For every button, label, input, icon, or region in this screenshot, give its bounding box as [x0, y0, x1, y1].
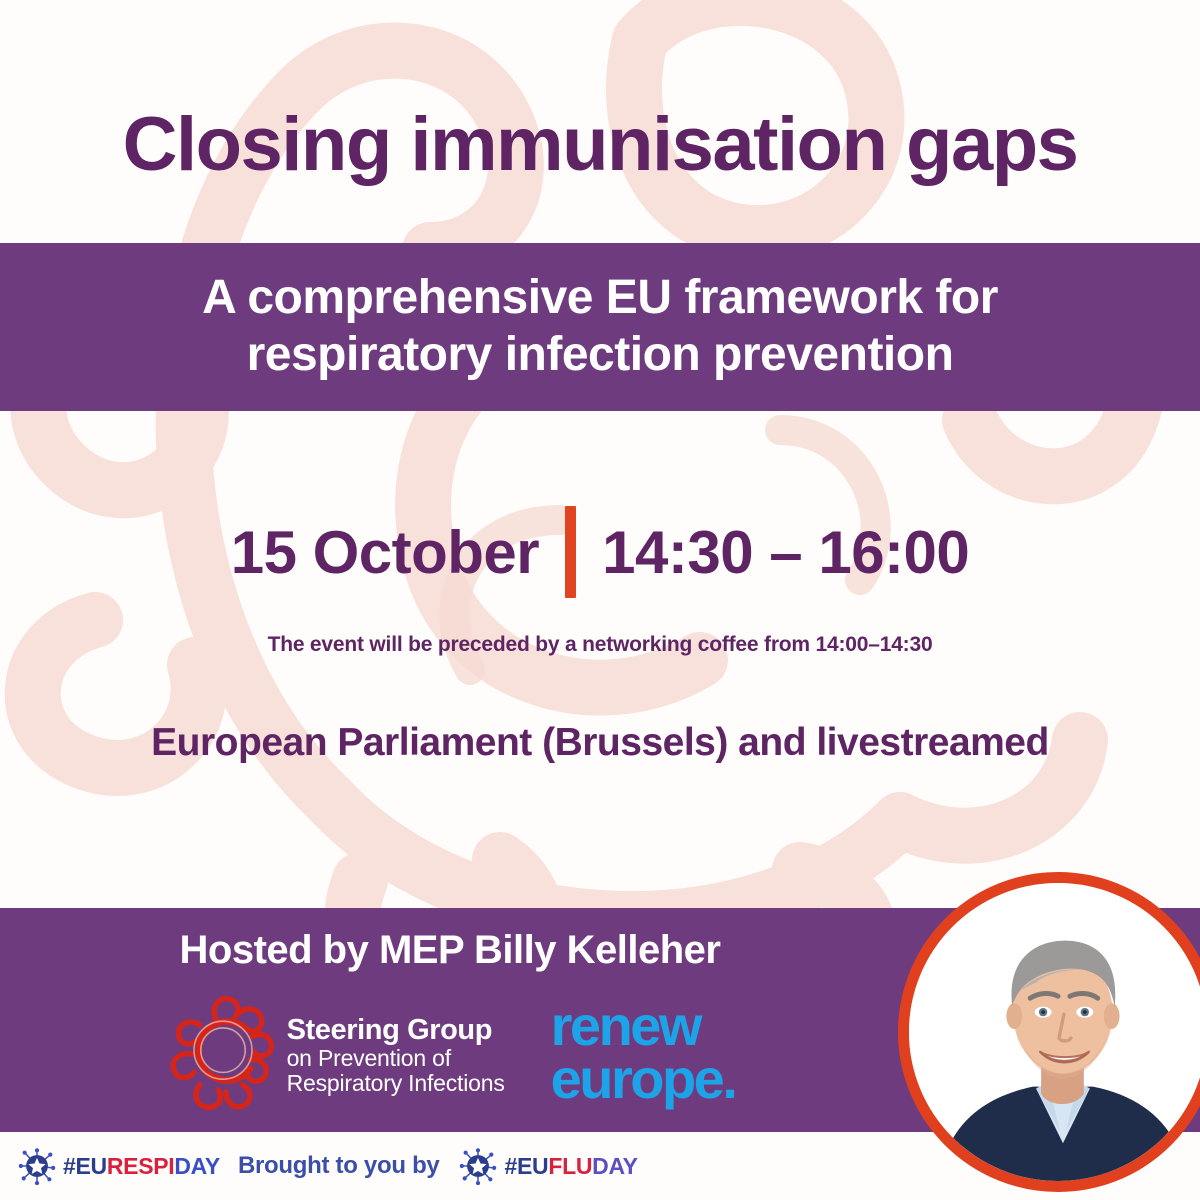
flu-suffix: DAY — [592, 1153, 638, 1179]
star-virus-icon — [459, 1147, 497, 1185]
speaker-portrait — [898, 872, 1200, 1192]
logo-row: Steering Group on Prevention of Respirat… — [0, 990, 900, 1120]
hosted-by-text: Hosted by MEP Billy Kelleher — [0, 928, 900, 973]
virus-c-icon — [165, 992, 281, 1118]
respi-suffix: DAY — [174, 1153, 220, 1179]
event-details-section: 15 October 14:30 – 16:00 The event will … — [0, 411, 1200, 908]
subtitle-band: A comprehensive EU framework for respira… — [0, 243, 1200, 411]
steering-group-text: Steering Group on Prevention of Respirat… — [287, 1015, 505, 1096]
renew-line-2: europe. — [551, 1052, 736, 1105]
eurespiday-hashtag: #EURESPIDAY — [63, 1153, 220, 1180]
flu-mid: FLU — [548, 1153, 592, 1179]
datetime-divider — [565, 506, 576, 598]
event-time: 14:30 – 16:00 — [602, 518, 969, 587]
portrait-photo — [909, 883, 1200, 1181]
title-zone: Closing immunisation gaps — [0, 0, 1200, 243]
sg-line-1: Steering Group — [287, 1015, 505, 1046]
datetime-row: 15 October 14:30 – 16:00 — [0, 506, 1200, 598]
star-virus-icon — [18, 1147, 56, 1185]
renew-line-1: renew — [551, 999, 736, 1052]
flu-prefix: #EU — [504, 1153, 548, 1179]
event-date: 15 October — [231, 518, 539, 587]
steering-group-logo: Steering Group on Prevention of Respirat… — [165, 992, 505, 1118]
renew-europe-logo: renew europe. — [551, 999, 736, 1105]
page-title: Closing immunisation gaps — [123, 101, 1078, 188]
eurespiday-hashtag-group: #EURESPIDAY — [18, 1147, 220, 1185]
portrait-ring — [898, 872, 1200, 1192]
respi-prefix: #EU — [63, 1153, 107, 1179]
networking-coffee-note: The event will be preceded by a networki… — [0, 633, 1200, 657]
subtitle-line-1: A comprehensive EU framework for — [202, 272, 998, 325]
eufluday-hashtag-group: #EUFLUDAY — [459, 1147, 637, 1185]
event-venue: European Parliament (Brussels) and lives… — [0, 721, 1200, 765]
subtitle-line-2: respiratory infection prevention — [247, 329, 954, 382]
brought-to-you-by-text: Brought to you by — [238, 1152, 440, 1180]
sg-line-2: on Prevention of — [287, 1046, 505, 1071]
sg-line-3: Respiratory Infections — [287, 1071, 505, 1096]
eufluday-hashtag: #EUFLUDAY — [504, 1153, 637, 1180]
respi-mid: RESPI — [107, 1153, 175, 1179]
